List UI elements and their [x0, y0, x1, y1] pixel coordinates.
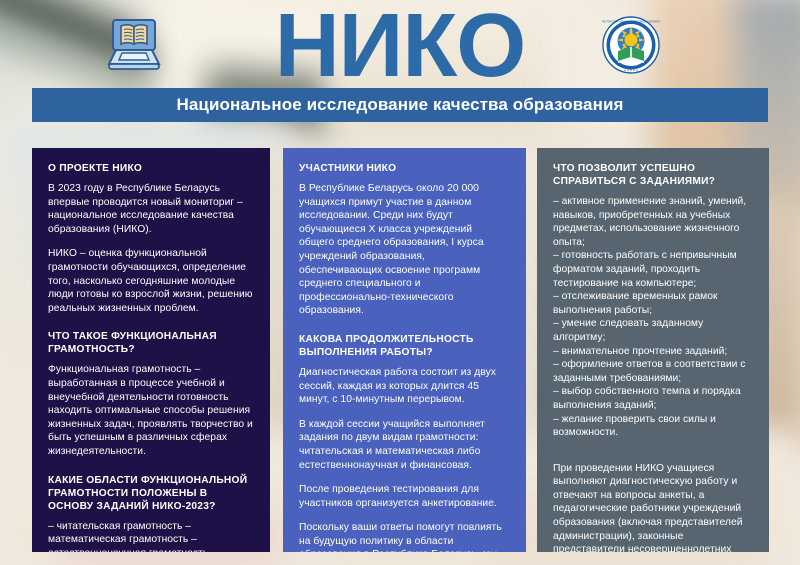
- column-left: О ПРОЕКТЕ НИКО В 2023 году в Республике …: [32, 148, 270, 552]
- content-columns: О ПРОЕКТЕ НИКО В 2023 году в Республике …: [0, 148, 800, 558]
- svg-text:МІНІСТЭРСТВА АДУКАЦЫІ РЭСПУБЛІ: МІНІСТЭРСТВА АДУКАЦЫІ РЭСПУБЛІКІ БЕЛАРУС…: [602, 19, 660, 23]
- middle-paragraph-1: В Республике Беларусь около 20 000 учащи…: [299, 182, 510, 318]
- left-paragraph-3: Функциональная грамотность – выработанна…: [48, 363, 254, 458]
- left-heading-functional-literacy: ЧТО ТАКОЕ ФУНКЦИОНАЛЬНАЯ ГРАМОТНОСТЬ?: [48, 330, 254, 356]
- middle-heading-participants: УЧАСТНИКИ НИКО: [299, 162, 510, 175]
- list-item: – готовность работать с непривычным форм…: [553, 249, 753, 290]
- list-item: – активное применение знаний, умений, на…: [553, 195, 753, 249]
- left-heading-areas: КАКИЕ ОБЛАСТИ ФУНКЦИОНАЛЬНОЙ ГРАМОТНОСТИ…: [48, 474, 254, 513]
- left-heading-about: О ПРОЕКТЕ НИКО: [48, 162, 254, 175]
- middle-paragraph-5: Поскольку ваши ответы помогут повлиять н…: [299, 521, 510, 552]
- right-spacer: [553, 440, 753, 462]
- list-item: – отслеживание временных рамок выполнени…: [553, 290, 753, 317]
- banner-text: Национальное исследование качества образ…: [176, 95, 623, 115]
- list-item: – желание проверить свои силы и возможно…: [553, 413, 753, 440]
- banner: Национальное исследование качества образ…: [32, 88, 768, 122]
- svg-text:★ ★ ★ ★ ★: ★ ★ ★ ★ ★: [624, 68, 639, 72]
- list-item: – читательская грамотность: [48, 521, 182, 532]
- middle-heading-duration: КАКОВА ПРОДОЛЖИТЕЛЬНОСТЬ ВЫПОЛНЕНИЯ РАБО…: [299, 333, 510, 359]
- right-paragraph-1: При проведении НИКО учащиеся выполняют д…: [553, 462, 753, 552]
- right-heading-success: ЧТО ПОЗВОЛИТ УСПЕШНО СПРАВИТЬСЯ С ЗАДАНИ…: [553, 162, 753, 188]
- right-success-list: – активное применение знаний, умений, на…: [553, 195, 753, 440]
- list-item: – внимательное прочтение заданий;: [553, 345, 753, 359]
- list-item: – умение следовать заданному алгоритму;: [553, 317, 753, 344]
- poster-header: НИКО: [0, 0, 800, 128]
- middle-paragraph-2: Диагностическая работа состоит из двух с…: [299, 366, 510, 407]
- middle-paragraph-4: После проведения тестирования для участн…: [299, 483, 510, 510]
- ministry-emblem-icon: МІНІСТЭРСТВА АДУКАЦЫІ РЭСПУБЛІКІ БЕЛАРУС…: [602, 16, 660, 79]
- list-item: – оформление ответов в соответствии с за…: [553, 358, 753, 385]
- middle-paragraph-3: В каждой сессии учащийся выполняет задан…: [299, 418, 510, 472]
- laptop-book-icon: [103, 14, 165, 81]
- list-item: – выбор собственного темпа и порядка вып…: [553, 385, 753, 412]
- left-paragraph-2: НИКО – оценка функциональной грамотности…: [48, 247, 254, 315]
- left-paragraph-1: В 2023 году в Республике Беларусь впервы…: [48, 182, 254, 236]
- left-literacy-list: – читательская грамотность – математичес…: [48, 520, 254, 553]
- column-right: ЧТО ПОЗВОЛИТ УСПЕШНО СПРАВИТЬСЯ С ЗАДАНИ…: [537, 148, 769, 552]
- column-middle: УЧАСТНИКИ НИКО В Республике Беларусь око…: [283, 148, 526, 552]
